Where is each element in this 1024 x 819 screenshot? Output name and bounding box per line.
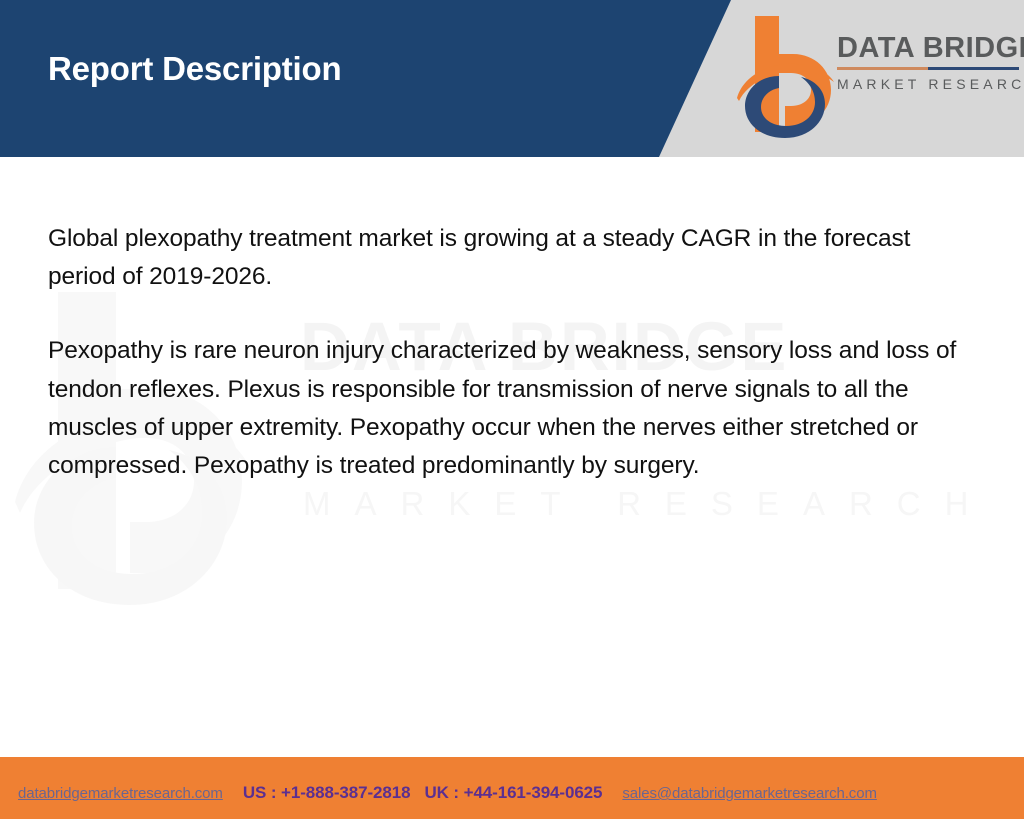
page-header: Report Description DATA BRIDGE MARKET RE… bbox=[0, 0, 1024, 157]
footer-us-phone: US : +1-888-387-2818 bbox=[243, 783, 411, 803]
watermark-sub-text: MARKET RESEARCH bbox=[303, 487, 992, 520]
logo-sub-text: MARKET RESEARCH bbox=[837, 77, 1019, 91]
body-content: Global plexopathy treatment market is gr… bbox=[48, 220, 958, 485]
page-footer: databridgemarketresearch.com US : +1-888… bbox=[0, 757, 1024, 819]
brand-logo: DATA BRIDGE MARKET RESEARCH bbox=[735, 14, 1020, 142]
logo-wordmark: DATA BRIDGE MARKET RESEARCH bbox=[837, 34, 1019, 91]
logo-main-text: DATA BRIDGE bbox=[837, 34, 1019, 63]
page-title: Report Description bbox=[48, 51, 341, 87]
paragraph-2: Pexopathy is rare neuron injury characte… bbox=[48, 332, 958, 485]
footer-uk-phone: UK : +44-161-394-0625 bbox=[424, 783, 602, 803]
logo-divider-rule bbox=[837, 67, 1019, 70]
footer-contact-bar: databridgemarketresearch.com US : +1-888… bbox=[18, 783, 877, 803]
slide-body: DATA BRIDGE MARKET RESEARCH Global plexo… bbox=[0, 157, 1024, 757]
footer-email-link[interactable]: sales@databridgemarketresearch.com bbox=[622, 785, 876, 802]
paragraph-1: Global plexopathy treatment market is gr… bbox=[48, 220, 958, 296]
data-bridge-b-logo-icon bbox=[735, 14, 835, 142]
footer-website-link[interactable]: databridgemarketresearch.com bbox=[18, 785, 223, 802]
